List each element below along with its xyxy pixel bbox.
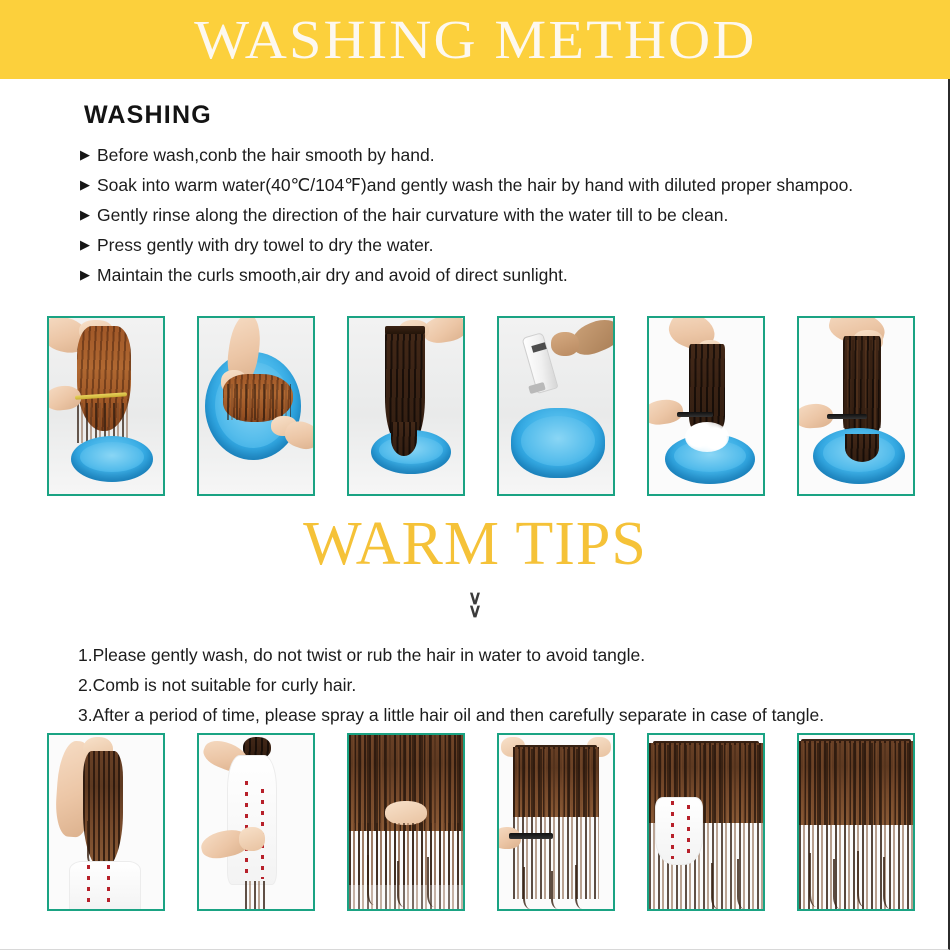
list-item-label: Press gently with dry towel to dry the w… bbox=[97, 233, 434, 257]
tips-step-photo-3 bbox=[349, 735, 463, 909]
washing-step-photo-1 bbox=[49, 318, 163, 494]
photo-frame bbox=[347, 316, 465, 496]
page-title: WASHING METHOD bbox=[194, 12, 756, 67]
list-item: ▶ Press gently with dry towel to dry the… bbox=[80, 233, 950, 257]
photo-frame bbox=[497, 733, 615, 911]
washing-heading: WASHING bbox=[84, 101, 950, 130]
triangle-bullet-icon: ▶ bbox=[80, 143, 90, 167]
washing-section: WASHING ▶ Before wash,conb the hair smoo… bbox=[0, 79, 950, 293]
warm-tips-title: WARM TIPS bbox=[0, 512, 950, 576]
tips-step-photo-1 bbox=[49, 735, 163, 909]
page-root: WASHING METHOD WASHING ▶ Before wash,con… bbox=[0, 0, 950, 950]
photo-frame bbox=[47, 316, 165, 496]
list-item: ▶ Soak into warm water(40℃/104℉)and gent… bbox=[80, 173, 950, 197]
photo-frame bbox=[797, 733, 915, 911]
photo-frame bbox=[347, 733, 465, 911]
photo-frame bbox=[197, 733, 315, 911]
triangle-bullet-icon: ▶ bbox=[80, 173, 90, 197]
washing-step-photo-6 bbox=[799, 318, 913, 494]
list-item-label: Soak into warm water(40℃/104℉)and gently… bbox=[97, 173, 853, 197]
list-item: ▶ Gently rinse along the direction of th… bbox=[80, 203, 950, 227]
washing-step-photo-3 bbox=[349, 318, 463, 494]
photo-frame bbox=[47, 733, 165, 911]
triangle-bullet-icon: ▶ bbox=[80, 233, 90, 257]
list-item: ▶ Maintain the curls smooth,air dry and … bbox=[80, 263, 950, 287]
photo-frame bbox=[497, 316, 615, 496]
washing-bullet-list: ▶ Before wash,conb the hair smooth by ha… bbox=[80, 143, 950, 287]
washing-step-photo-4 bbox=[499, 318, 613, 494]
list-item: 2.Comb is not suitable for curly hair. bbox=[78, 673, 950, 697]
chevron-down-icon-group: ∨ ∨ bbox=[0, 592, 950, 618]
photo-frame bbox=[197, 316, 315, 496]
tips-step-photo-4 bbox=[499, 735, 613, 909]
photo-frame bbox=[647, 316, 765, 496]
tips-step-photo-2 bbox=[199, 735, 313, 909]
photo-frame bbox=[797, 316, 915, 496]
triangle-bullet-icon: ▶ bbox=[80, 263, 90, 287]
list-item: ▶ Before wash,conb the hair smooth by ha… bbox=[80, 143, 950, 167]
tips-photo-row bbox=[47, 733, 915, 911]
chevron-down-icon: ∨ bbox=[0, 605, 950, 618]
page-banner: WASHING METHOD bbox=[0, 0, 950, 79]
triangle-bullet-icon: ▶ bbox=[80, 203, 90, 227]
list-item-label: Gently rinse along the direction of the … bbox=[97, 203, 728, 227]
list-item-label: Maintain the curls smooth,air dry and av… bbox=[97, 263, 568, 287]
tips-step-photo-6 bbox=[799, 735, 913, 909]
list-item: 3.After a period of time, please spray a… bbox=[78, 703, 950, 727]
warm-tips-list: 1.Please gently wash, do not twist or ru… bbox=[78, 643, 950, 733]
list-item-label: Before wash,conb the hair smooth by hand… bbox=[97, 143, 435, 167]
washing-photo-row bbox=[47, 316, 915, 496]
photo-frame bbox=[647, 733, 765, 911]
list-item: 1.Please gently wash, do not twist or ru… bbox=[78, 643, 950, 667]
washing-step-photo-5 bbox=[649, 318, 763, 494]
tips-step-photo-5 bbox=[649, 735, 763, 909]
washing-step-photo-2 bbox=[199, 318, 313, 494]
